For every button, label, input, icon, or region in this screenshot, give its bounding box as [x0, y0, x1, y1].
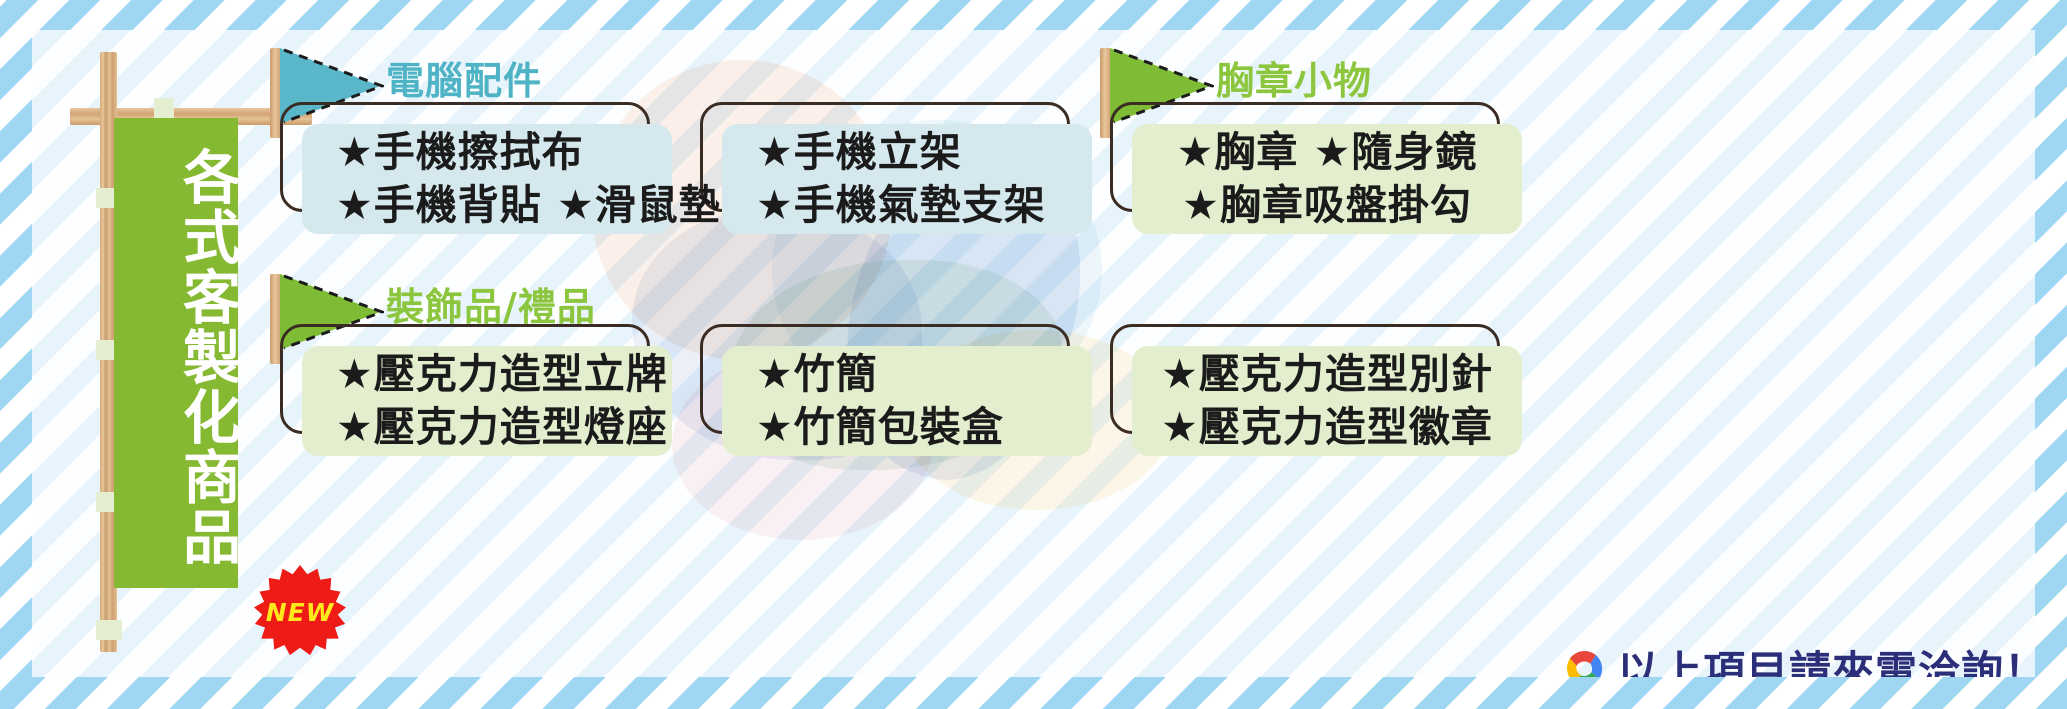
contact-notice: 以上項目請來電洽詢！ — [1557, 638, 2035, 677]
item-box-lines: ★手機擦拭布★手機背貼 ★滑鼠墊 — [302, 124, 672, 234]
item-box-lines: ★壓克力造型立牌★壓克力造型燈座 — [302, 346, 672, 456]
item-line: ★壓克力造型立牌 — [336, 348, 668, 401]
item-box-lines: ★手機立架★手機氣墊支架 — [722, 124, 1092, 234]
poster-root: 各式客製化商品 NEW 電腦配件★手機擦拭布★手機背貼 ★滑鼠墊★手機立架★手機… — [0, 0, 2067, 709]
poster-inner-panel: 各式客製化商品 NEW 電腦配件★手機擦拭布★手機背貼 ★滑鼠墊★手機立架★手機… — [32, 30, 2035, 677]
item-line: ★壓克力造型別針 — [1161, 348, 1493, 401]
item-line: ★胸章 ★隨身鏡 — [1177, 126, 1478, 179]
item-line: ★壓克力造型徽章 — [1161, 401, 1493, 454]
item-box: ★壓克力造型別針★壓克力造型徽章 — [1110, 324, 1522, 456]
item-line: ★手機背貼 ★滑鼠墊 — [336, 179, 721, 232]
item-line: ★胸章吸盤掛勾 — [1182, 179, 1472, 232]
contact-text: 以上項目請來電洽詢！ — [1617, 638, 2035, 677]
item-box-lines: ★胸章 ★隨身鏡★胸章吸盤掛勾 — [1132, 124, 1522, 234]
item-line: ★壓克力造型燈座 — [336, 401, 668, 454]
item-box-lines: ★竹簡★竹簡包裝盒 — [722, 346, 1092, 456]
item-line: ★竹簡包裝盒 — [756, 401, 1004, 454]
item-box-lines: ★壓克力造型別針★壓克力造型徽章 — [1132, 346, 1522, 456]
section-title-badges-accessories: 胸章小物 — [1216, 50, 1372, 105]
company-logo-icon — [1557, 642, 1611, 678]
item-box: ★胸章 ★隨身鏡★胸章吸盤掛勾 — [1110, 102, 1522, 234]
item-line: ★手機立架 — [756, 126, 962, 179]
item-line: ★手機氣墊支架 — [756, 179, 1046, 232]
item-line: ★竹簡 — [756, 348, 878, 401]
item-line: ★手機擦拭布 — [336, 126, 584, 179]
